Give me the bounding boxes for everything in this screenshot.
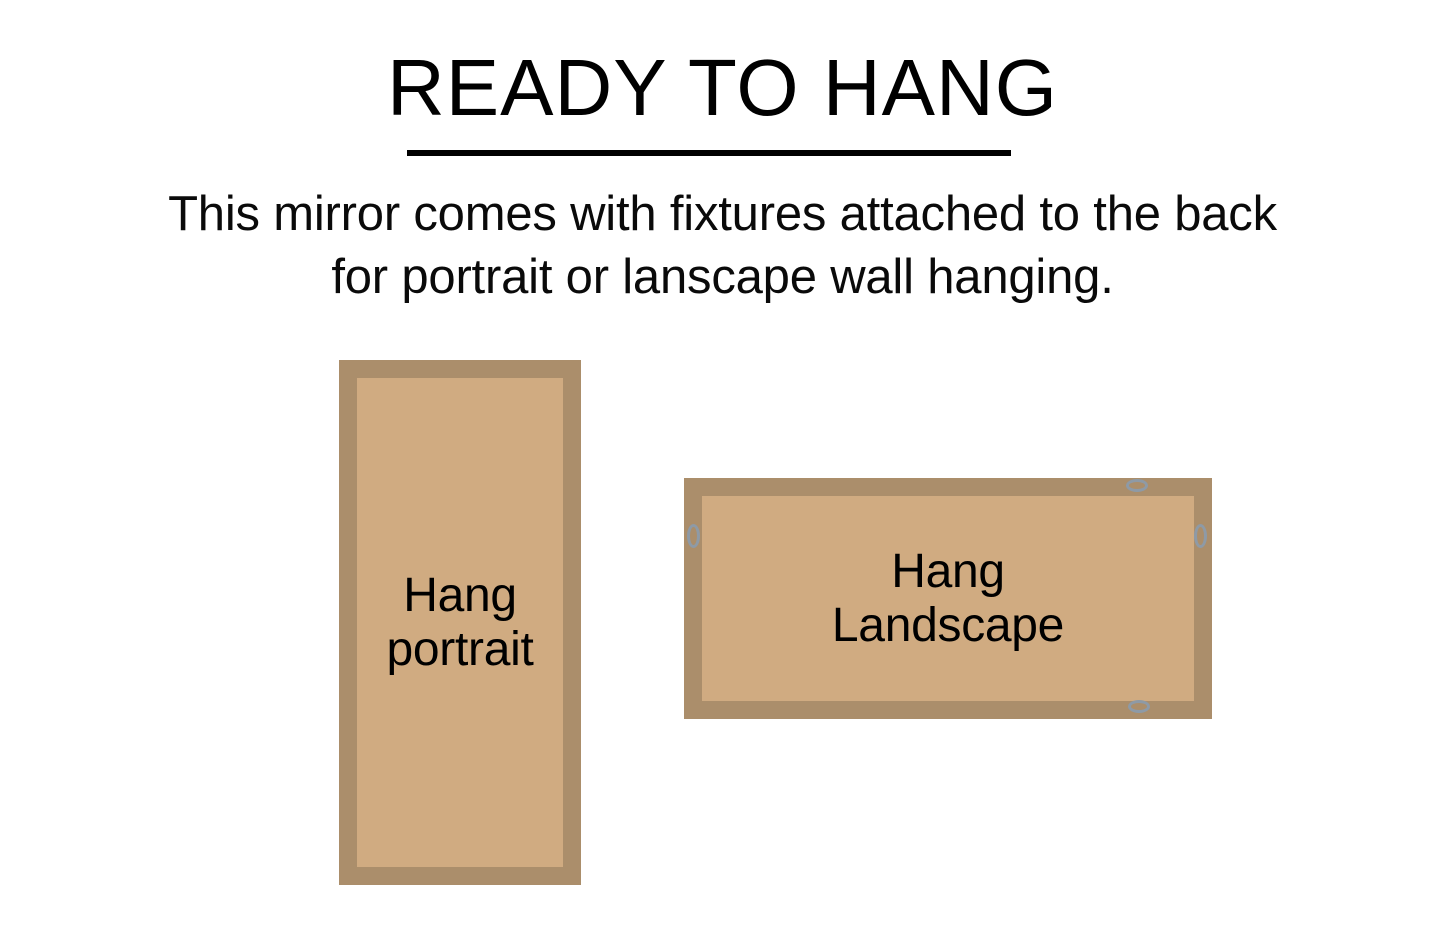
ready-to-hang-infographic: READY TO HANG This mirror comes with fix…	[0, 0, 1445, 943]
mirror-label-portrait: Hang portrait	[387, 569, 534, 677]
page-title: READY TO HANG	[0, 48, 1445, 128]
mirror-frame-landscape: Hang Landscape	[684, 478, 1212, 719]
page-subtitle: This mirror comes with fixtures attached…	[150, 183, 1295, 308]
mirror-frame-portrait: Hang portrait	[339, 360, 581, 885]
mirror-panel-portrait: Hang portrait	[357, 378, 563, 867]
hanging-fixture-ring-icon	[687, 524, 700, 548]
mirror-label-landscape: Hang Landscape	[832, 545, 1064, 653]
title-underline	[407, 150, 1011, 156]
hanging-fixture-ring-icon	[1128, 700, 1150, 713]
mirror-panel-landscape: Hang Landscape	[702, 496, 1194, 701]
hanging-fixture-ring-icon	[1126, 479, 1148, 492]
hanging-fixture-ring-icon	[1194, 524, 1207, 548]
